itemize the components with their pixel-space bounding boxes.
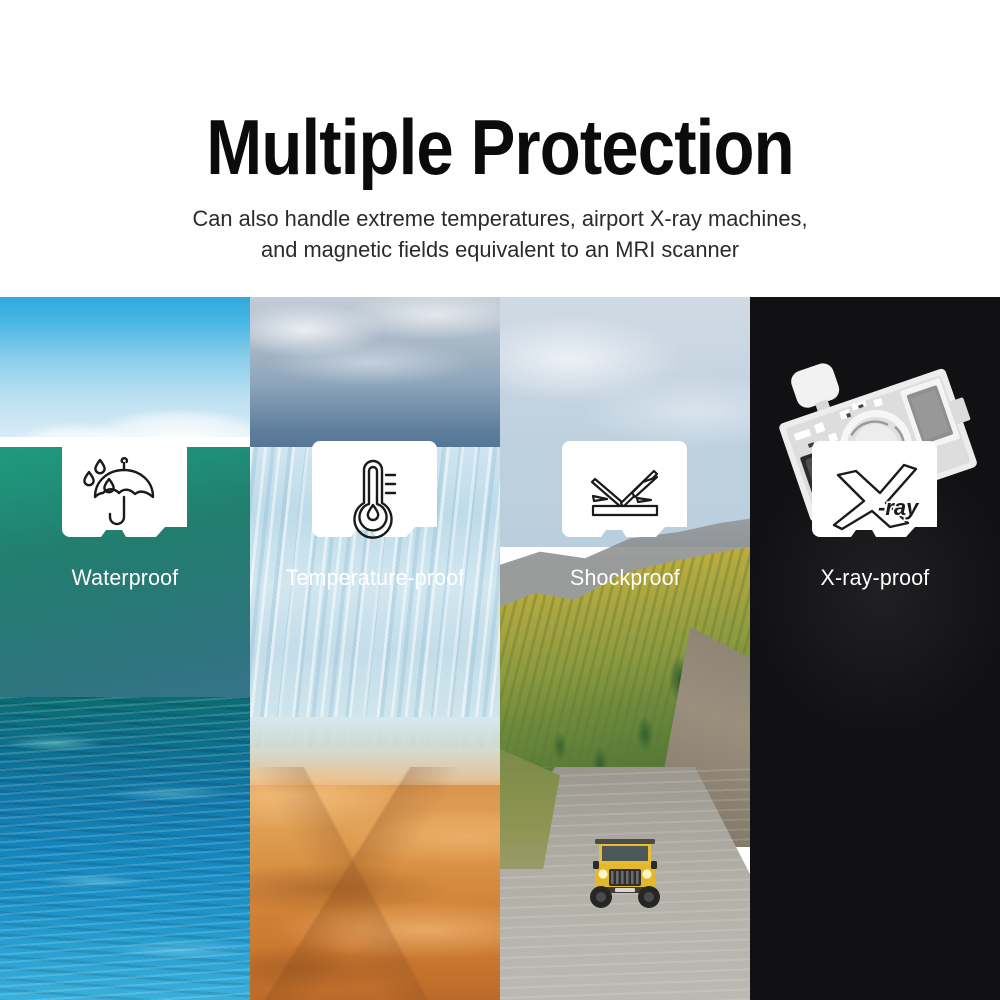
feature-label-temperature-proof: Temperature-proof xyxy=(254,565,497,591)
water-highlights xyxy=(0,687,250,1000)
feature-panel-xray-proof xyxy=(750,297,1000,1000)
header: Multiple Protection Can also handle extr… xyxy=(0,0,1000,297)
feature-panel-waterproof xyxy=(0,297,250,1000)
subtitle-line-2: and magnetic fields equivalent to an MRI… xyxy=(64,234,937,265)
feature-label-waterproof: Waterproof xyxy=(4,565,247,591)
page-title: Multiple Protection xyxy=(70,104,930,190)
feature-card-xray-proof[interactable]: -ray xyxy=(812,441,937,551)
feature-card-temperature-proof[interactable] xyxy=(312,441,437,551)
feature-card-waterproof[interactable] xyxy=(62,441,187,551)
subtitle-line-1: Can also handle extreme temperatures, ai… xyxy=(64,203,937,234)
clouds xyxy=(250,297,500,447)
feature-panel-band xyxy=(0,297,1000,1000)
feature-label-xray-proof: X-ray-proof xyxy=(754,565,997,591)
feature-panel-temperature-proof xyxy=(250,297,500,1000)
feature-card-shockproof[interactable] xyxy=(562,441,687,551)
yellow-jeep xyxy=(575,817,675,909)
feature-panel-shockproof xyxy=(500,297,750,1000)
dune-ridges xyxy=(250,767,500,1000)
microsd-card-shape xyxy=(312,441,437,551)
feature-label-shockproof: Shockproof xyxy=(504,565,747,591)
promo-page: Multiple Protection Can also handle extr… xyxy=(0,0,1000,1000)
x-ray-icon-text: -ray xyxy=(878,495,920,520)
microsd-card-shape: -ray xyxy=(812,441,937,551)
microsd-card-shape xyxy=(562,441,687,551)
page-subtitle: Can also handle extreme temperatures, ai… xyxy=(64,203,937,265)
microsd-card-shape xyxy=(62,441,187,551)
